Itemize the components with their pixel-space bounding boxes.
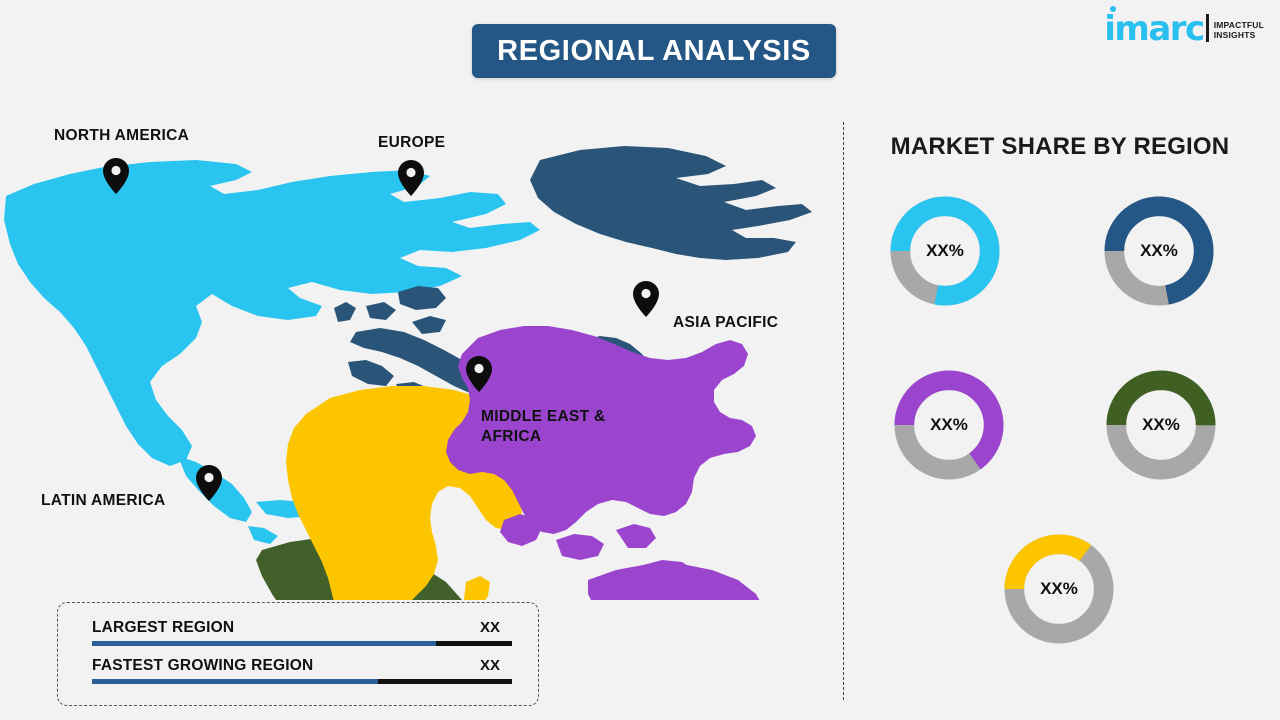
regional-analysis-infographic: REGIONAL ANALYSIS imarc IMPACTFUL INSIGH…: [0, 0, 1280, 720]
map-pin-middle-east-africa-icon[interactable]: [466, 356, 492, 392]
map-label-latin-america: LATIN AMERICA: [41, 491, 165, 511]
donut-label-latin-america: XX%: [1102, 366, 1220, 484]
donut-chart-middle-east-africa[interactable]: XX%: [1000, 530, 1118, 648]
page-title: REGIONAL ANALYSIS: [497, 35, 811, 68]
donut-label-middle-east-africa: XX%: [1000, 530, 1118, 648]
legend-value-fastest-growing-region: XX: [480, 657, 512, 674]
page-title-banner: REGIONAL ANALYSIS: [472, 24, 836, 78]
logo-divider-bar: [1206, 14, 1209, 42]
logo-tagline-line1: IMPACTFUL: [1214, 20, 1264, 31]
legend-bar-fastest-growing-region: [92, 679, 512, 684]
region-summary-legend: LARGEST REGION XX FASTEST GROWING REGION…: [57, 602, 539, 706]
map-pin-europe-icon[interactable]: [398, 160, 424, 196]
map-label-europe: EUROPE: [378, 133, 445, 153]
donut-label-asia-pacific: XX%: [890, 366, 1008, 484]
donut-chart-latin-america[interactable]: XX%: [1102, 366, 1220, 484]
imarc-logo: imarc IMPACTFUL INSIGHTS: [1104, 14, 1264, 44]
legend-bar-fill-largest-region: [92, 641, 436, 646]
legend-label-largest-region: LARGEST REGION: [92, 619, 234, 637]
legend-bar-largest-region: [92, 641, 512, 646]
legend-row-largest-region: LARGEST REGION XX: [92, 619, 512, 646]
map-label-north-america: NORTH AMERICA: [54, 126, 189, 146]
logo-wordmark: imarc: [1104, 15, 1203, 44]
map-label-asia-pacific: ASIA PACIFIC: [673, 313, 778, 333]
map-pin-asia-pacific-icon[interactable]: [633, 281, 659, 317]
map-pin-north-america-icon[interactable]: [103, 158, 129, 194]
market-share-panel-title: MARKET SHARE BY REGION: [860, 133, 1260, 161]
donut-chart-europe[interactable]: XX%: [1100, 192, 1218, 310]
map-pin-latin-america-icon[interactable]: [196, 465, 222, 501]
legend-row-fastest-growing-region: FASTEST GROWING REGION XX: [92, 657, 512, 684]
region-asia-pacific[interactable]: [446, 326, 806, 600]
logo-word-text: imarc: [1104, 9, 1203, 49]
panel-divider: [843, 122, 844, 700]
donut-chart-asia-pacific[interactable]: XX%: [890, 366, 1008, 484]
legend-label-fastest-growing-region: FASTEST GROWING REGION: [92, 657, 313, 675]
logo-tagline-line2: INSIGHTS: [1214, 30, 1264, 41]
legend-value-largest-region: XX: [480, 619, 512, 636]
donut-label-europe: XX%: [1100, 192, 1218, 310]
donut-chart-north-america[interactable]: XX%: [886, 192, 1004, 310]
legend-bar-fill-fastest-growing-region: [92, 679, 378, 684]
donut-label-north-america: XX%: [886, 192, 1004, 310]
map-label-middle-east-africa: MIDDLE EAST & AFRICA: [481, 407, 605, 447]
logo-tagline: IMPACTFUL INSIGHTS: [1214, 20, 1264, 41]
